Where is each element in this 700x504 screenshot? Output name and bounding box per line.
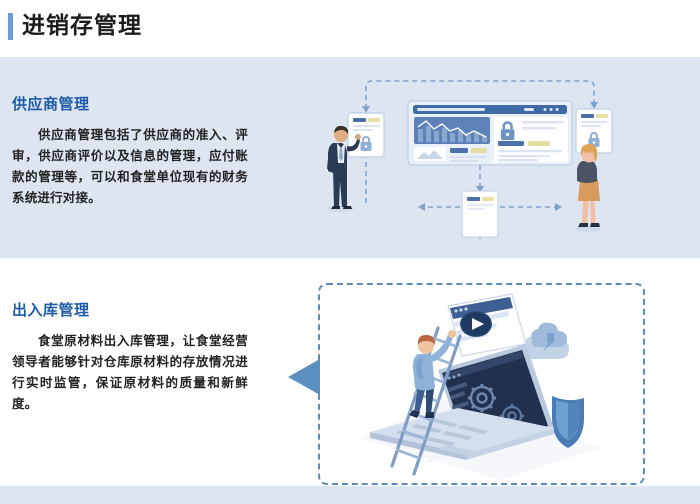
page-title: 进销存管理 bbox=[22, 11, 142, 41]
section-body-inventory: 食堂原材料出入库管理，让食堂经营领导者能够针对仓库原材料的存放情况进行实时监管，… bbox=[12, 330, 248, 414]
title-accent-bar bbox=[8, 13, 13, 40]
browser-window-play-button bbox=[448, 294, 526, 356]
section-body-supplier: 供应商管理包括了供应商的准入、评审，供应商评价以及信息的管理，应付账款的管理等，… bbox=[12, 124, 248, 208]
section-heading-supplier: 供应商管理 bbox=[12, 93, 90, 114]
page-header: 进销存管理 bbox=[0, 0, 700, 57]
page-root: 进销存管理 供应商管理 供应商管理包括了供应商的准入、评审，供应商评价以及信息的… bbox=[0, 0, 700, 504]
supplier-network-illustration bbox=[300, 57, 700, 258]
browser-dashboard-window bbox=[408, 101, 572, 165]
cloud-upload-icon bbox=[525, 323, 569, 359]
section-heading-inventory: 出入库管理 bbox=[12, 299, 90, 320]
play-button bbox=[460, 311, 492, 337]
businessman-figure bbox=[326, 126, 361, 212]
businesswoman-figure bbox=[575, 144, 601, 232]
callout-left-arrow bbox=[286, 357, 322, 397]
document-card-bottom bbox=[462, 191, 498, 237]
inventory-laptop-illustration bbox=[330, 288, 630, 480]
footer-band bbox=[0, 486, 700, 504]
bar-line-chart-panel bbox=[414, 117, 490, 144]
